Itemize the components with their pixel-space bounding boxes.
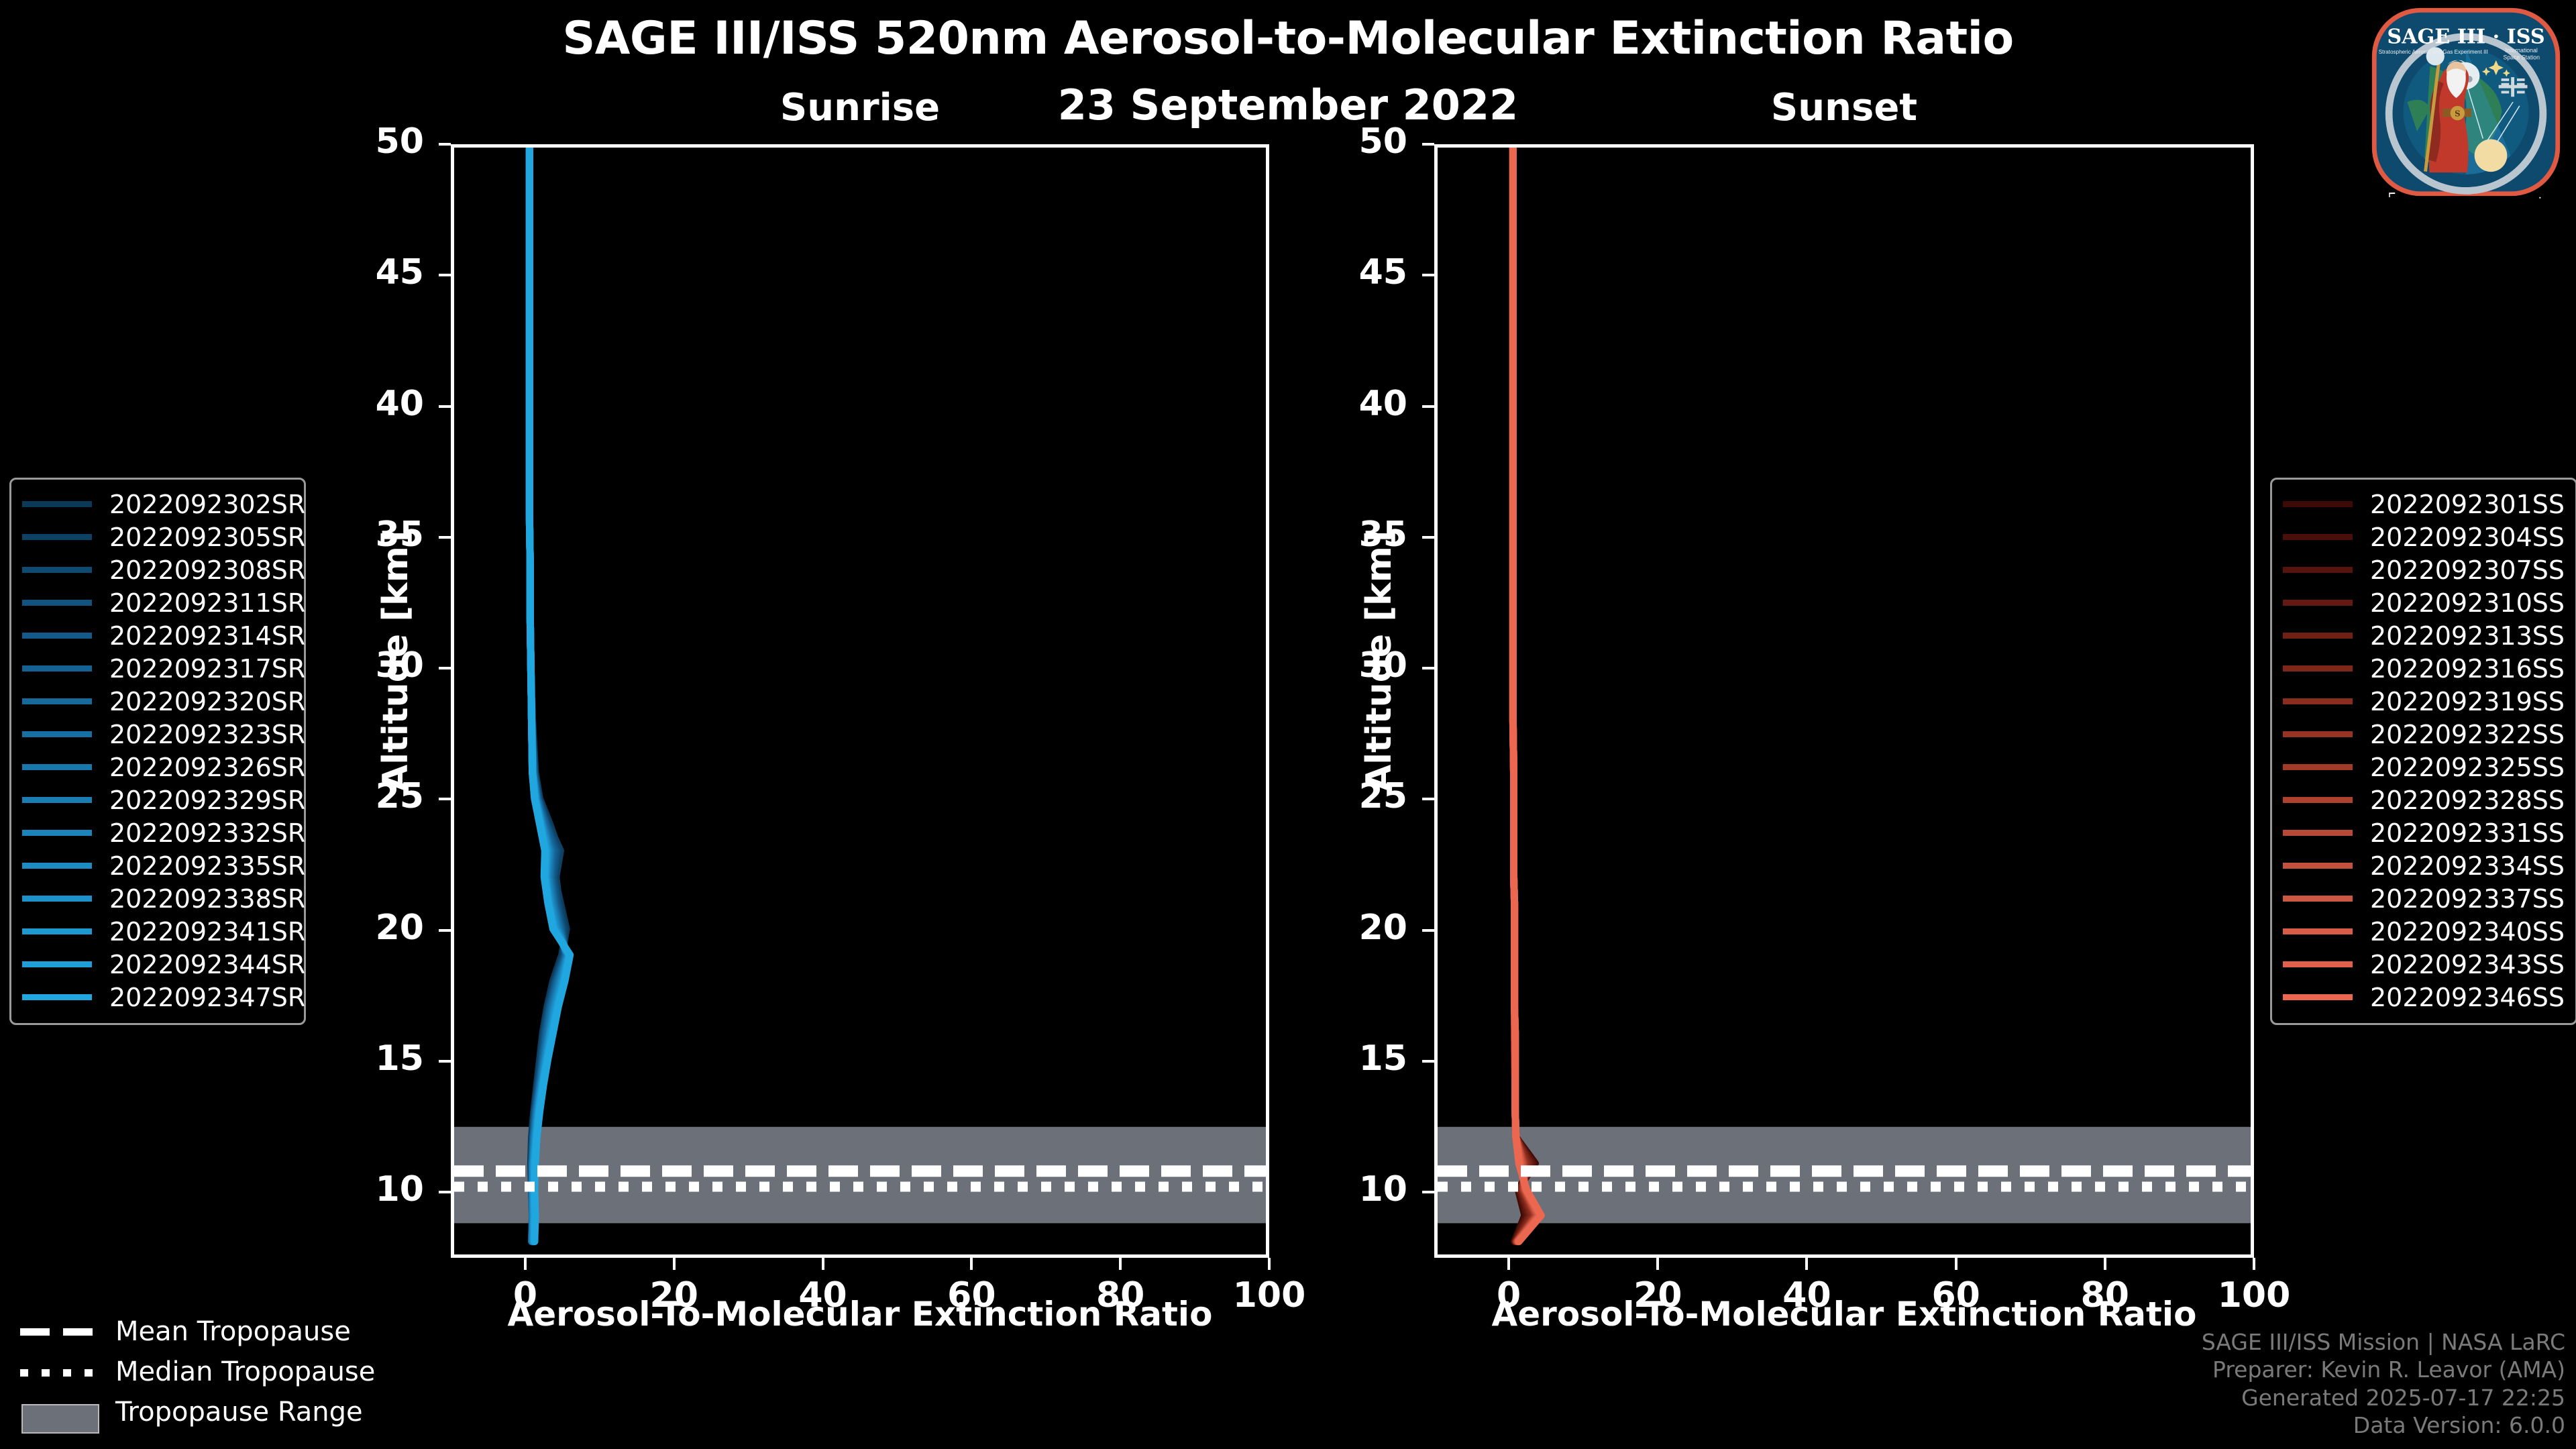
sunset-legend-label: 2022092334SS [2370,851,2565,881]
sunset-legend-label: 2022092322SS [2370,720,2565,749]
sunset-x-tick-mark [1805,1258,1808,1270]
sunset-legend-label: 2022092319SS [2370,687,2565,716]
sunset-y-tick-mark [1422,536,1434,539]
sunrise-legend-label: 2022092338SR [109,884,305,914]
credits-line: SAGE III/ISS Mission | NASA LaRC [2202,1328,2565,1356]
sunrise-legend-label: 2022092308SR [109,555,305,585]
dotted-line-icon [20,1364,101,1380]
patch-subtitle-left: Stratospheric Aerosol and Gas Experiment… [2379,49,2488,55]
sunset-panel-title: Sunset [1434,86,2254,129]
sunrise-y-tick-label: 50 [323,121,424,162]
sunrise-y-tick-mark [439,798,451,800]
sunrise-legend-color-swatch [22,633,92,639]
sunset-y-tick-label: 50 [1307,121,1407,162]
sunset-x-tick-mark [1955,1258,1957,1270]
sunrise-y-tick-mark [439,143,451,146]
sunrise-x-tick-label: 40 [769,1275,877,1316]
sunset-y-tick-mark [1422,667,1434,669]
sunset-legend-label: 2022092316SS [2370,654,2565,684]
sunset-legend-item[interactable]: 2022092304SS [2283,521,2565,553]
sunset-y-tick-label: 30 [1307,645,1407,686]
sunset-legend-color-swatch [2283,698,2353,704]
sunrise-legend-item[interactable]: 2022092347SR [22,981,293,1014]
sunrise-legend-color-swatch [22,665,92,672]
sunrise-y-tick-label: 45 [323,252,424,292]
sunset-legend-color-swatch [2283,600,2353,606]
sunrise-legend-color-swatch [22,501,92,507]
sunset-y-tick-label: 35 [1307,515,1407,555]
sunrise-legend-color-swatch [22,797,92,803]
tropopause-legend-label: Mean Tropopause [115,1316,351,1347]
sunrise-y-tick-mark [439,929,451,932]
sunset-x-tick-label: 80 [2051,1275,2159,1316]
sunrise-legend-color-swatch [22,928,92,934]
sunrise-legend-color-swatch [22,698,92,704]
sunrise-legend-item[interactable]: 2022092344SR [22,948,293,981]
sunrise-legend-item[interactable]: 2022092323SR [22,718,293,751]
sunset-legend-color-swatch [2283,797,2353,803]
sunrise-legend-item[interactable]: 2022092305SR [22,521,293,553]
sunset-legend-color-swatch [2283,830,2353,836]
sunset-legend-color-swatch [2283,665,2353,672]
shaded-band-icon [20,1404,101,1420]
sunrise-y-tick-label: 25 [323,776,424,816]
sunset-x-tick-mark [1507,1258,1510,1270]
sunset-legend-item[interactable]: 2022092301SS [2283,488,2565,521]
sunset-x-tick-label: 0 [1455,1275,1562,1316]
sunset-legend-color-swatch [2283,863,2353,869]
sunrise-legend-color-swatch [22,896,92,902]
sunset-legend-item[interactable]: 2022092319SS [2283,685,2565,718]
sunrise-y-tick-mark [439,1060,451,1063]
sunrise-legend-label: 2022092323SR [109,720,305,749]
sunset-legend-item[interactable]: 2022092325SS [2283,751,2565,784]
sunset-y-tick-mark [1422,798,1434,800]
sunrise-x-tick-mark [970,1258,973,1270]
sunset-legend-item[interactable]: 2022092343SS [2283,948,2565,981]
sunset-legend-color-swatch [2283,633,2353,639]
credits-block: SAGE III/ISS Mission | NASA LaRCPreparer… [2202,1328,2565,1440]
sunrise-x-tick-mark [1119,1258,1122,1270]
sunset-legend-item[interactable]: 2022092337SS [2283,882,2565,915]
sunrise-legend-label: 2022092305SR [109,523,305,552]
sunset-legend-item[interactable]: 2022092307SS [2283,553,2565,586]
page-title: SAGE III/ISS 520nm Aerosol-to-Molecular … [0,12,2576,65]
sunset-y-tick-mark [1422,1191,1434,1193]
tropopause-legend-label: Median Tropopause [115,1356,375,1387]
sunrise-legend-item[interactable]: 2022092302SR [22,488,293,521]
sunset-y-tick-label: 45 [1307,252,1407,292]
sunrise-y-tick-label: 30 [323,645,424,686]
sunrise-x-tick-mark [822,1258,824,1270]
sunset-legend-color-swatch [2283,928,2353,934]
sunrise-y-tick-mark [439,405,451,408]
sage-iii-iss-mission-patch-logo: S SAGE III · ISS Stratospheric Aerosol a… [2368,4,2564,200]
sunrise-y-tick-mark [439,1191,451,1193]
sunrise-x-tick-label: 100 [1216,1275,1323,1316]
sunset-y-tick-mark [1422,274,1434,276]
sunset-legend-label: 2022092304SS [2370,523,2565,552]
sunrise-y-tick-label: 40 [323,384,424,424]
sunrise-legend-item[interactable]: 2022092314SR [22,619,293,652]
sunset-x-tick-mark [1656,1258,1659,1270]
sunset-legend-label: 2022092301SS [2370,490,2565,519]
sunrise-panel-title: Sunrise [451,86,1269,129]
sunrise-y-tick-mark [439,667,451,669]
sunset-x-tick-label: 20 [1604,1275,1711,1316]
sunrise-legend-item[interactable]: 2022092326SR [22,751,293,784]
sunset-legend-label: 2022092313SS [2370,621,2565,651]
sunrise-legend-label: 2022092329SR [109,786,305,815]
sunrise-legend-item[interactable]: 2022092329SR [22,784,293,816]
sunrise-x-tick-label: 80 [1067,1275,1174,1316]
sunset-x-tick-label: 60 [1902,1275,2010,1316]
sunrise-legend-label: 2022092326SR [109,753,305,782]
sunrise-legend-color-swatch [22,764,92,770]
patch-subtitle-right-line2: Space Station [2503,54,2540,61]
sunrise-legend-color-swatch [22,731,92,737]
sunrise-legend-item[interactable]: 2022092311SR [22,586,293,619]
sunrise-x-tick-mark [673,1258,676,1270]
sunset-y-tick-label: 10 [1307,1169,1407,1210]
sunset-legend-label: 2022092307SS [2370,555,2565,585]
sunset-legend-color-swatch [2283,994,2353,1000]
tropopause-legend-item: Median Tropopause [20,1352,369,1392]
sunrise-legend-item[interactable]: 2022092317SR [22,652,293,685]
sunset-y-tick-label: 25 [1307,776,1407,816]
sunrise-legend-label: 2022092317SR [109,654,305,684]
sunset-y-tick-label: 15 [1307,1038,1407,1079]
profile-line [1513,148,1541,1242]
sunrise-x-tick-label: 60 [918,1275,1025,1316]
sunrise-legend-label: 2022092302SR [109,490,305,519]
sunset-legend-color-swatch [2283,501,2353,507]
sunset-legend-label: 2022092310SS [2370,588,2565,618]
sunset-legend-label: 2022092337SS [2370,884,2565,914]
sunset-y-tick-mark [1422,405,1434,408]
sunset-legend-item[interactable]: 2022092346SS [2283,981,2565,1014]
sunrise-legend-color-swatch [22,863,92,869]
patch-subtitle-right-line1: International [2506,47,2538,54]
patch-title: SAGE III · ISS [2387,25,2544,48]
sunset-legend-color-swatch [2283,731,2353,737]
sunrise-y-tick-label: 15 [323,1038,424,1079]
sunset-legend-label: 2022092328SS [2370,786,2565,815]
tropopause-legend: Mean TropopauseMedian TropopauseTropopau… [20,1311,369,1432]
sunset-y-tick-mark [1422,143,1434,146]
sunset-legend-label: 2022092340SS [2370,917,2565,947]
sunset-legend-item[interactable]: 2022092328SS [2283,784,2565,816]
sunset-legend-item[interactable]: 2022092313SS [2283,619,2565,652]
sunset-legend-item[interactable]: 2022092334SS [2283,849,2565,882]
sunset-legend[interactable]: 2022092301SS2022092304SS2022092307SS2022… [2270,478,2576,1025]
credits-line: Data Version: 6.0.0 [2202,1411,2565,1440]
sunset-legend-color-swatch [2283,567,2353,573]
sunrise-legend-item[interactable]: 2022092341SR [22,915,293,948]
sunrise-x-tick-label: 0 [472,1275,579,1316]
sunrise-legend-item[interactable]: 2022092332SR [22,816,293,849]
sunset-plot-area [1438,148,2251,1254]
sunrise-x-tick-mark [1268,1258,1271,1270]
sunset-legend-label: 2022092325SS [2370,753,2565,782]
sunset-legend-color-swatch [2283,896,2353,902]
dashed-line-icon [20,1324,101,1340]
sunrise-x-tick-mark [524,1258,527,1270]
sunrise-legend-label: 2022092320SR [109,687,305,716]
sunrise-legend-color-swatch [22,961,92,967]
sunset-legend-color-swatch [2283,534,2353,540]
sunrise-legend-label: 2022092332SR [109,818,305,848]
svg-text:S: S [2455,109,2460,118]
sunrise-y-tick-label: 35 [323,515,424,555]
sunset-legend-label: 2022092331SS [2370,818,2565,848]
sunset-y-tick-label: 40 [1307,384,1407,424]
sunset-legend-label: 2022092343SS [2370,950,2565,979]
sunset-legend-item[interactable]: 2022092316SS [2283,652,2565,685]
sunrise-legend-label: 2022092341SR [109,917,305,947]
sunrise-legend-item[interactable]: 2022092320SR [22,685,293,718]
sunset-legend-color-swatch [2283,764,2353,770]
sunset-legend-item[interactable]: 2022092331SS [2283,816,2565,849]
sunrise-legend-item[interactable]: 2022092308SR [22,553,293,586]
sunrise-legend-label: 2022092344SR [109,950,305,979]
sunset-x-tick-label: 40 [1753,1275,1860,1316]
sunrise-legend-item[interactable]: 2022092338SR [22,882,293,915]
sunrise-y-tick-mark [439,274,451,276]
sunset-legend-item[interactable]: 2022092322SS [2283,718,2565,751]
sunset-x-tick-mark [2253,1258,2255,1270]
sunrise-legend-label: 2022092347SR [109,983,305,1012]
sunrise-legend-label: 2022092335SR [109,851,305,881]
credits-line: Generated 2025-07-17 22:25 [2202,1384,2565,1412]
sunrise-legend-item[interactable]: 2022092335SR [22,849,293,882]
sunrise-legend-label: 2022092311SR [109,588,305,618]
tropopause-legend-item: Tropopause Range [20,1392,369,1432]
sunrise-legend-color-swatch [22,994,92,1000]
sunrise-legend[interactable]: 2022092302SR2022092305SR2022092308SR2022… [9,478,306,1025]
sunrise-legend-color-swatch [22,600,92,606]
sunset-legend-item[interactable]: 2022092310SS [2283,586,2565,619]
sunrise-y-tick-mark [439,536,451,539]
sunset-x-tick-label: 100 [2200,1275,2308,1316]
credits-line: Preparer: Kevin R. Leavor (AMA) [2202,1356,2565,1384]
sunset-x-tick-mark [2104,1258,2106,1270]
sunset-legend-color-swatch [2283,961,2353,967]
sunset-legend-item[interactable]: 2022092340SS [2283,915,2565,948]
sunrise-y-tick-label: 20 [323,908,424,948]
sunset-y-tick-mark [1422,929,1434,932]
sunrise-legend-label: 2022092314SR [109,621,305,651]
sunset-plot-panel [1434,144,2254,1258]
sunrise-plot-panel [451,144,1269,1258]
sunrise-legend-color-swatch [22,830,92,836]
sunrise-x-tick-label: 20 [621,1275,728,1316]
sunrise-legend-color-swatch [22,534,92,540]
sunrise-y-tick-label: 10 [323,1169,424,1210]
tropopause-legend-label: Tropopause Range [115,1397,363,1428]
sunrise-legend-color-swatch [22,567,92,573]
tropopause-legend-item: Mean Tropopause [20,1311,369,1352]
sunrise-plot-area [454,148,1266,1254]
sunset-legend-label: 2022092346SS [2370,983,2565,1012]
sunset-y-tick-mark [1422,1060,1434,1063]
sunset-y-tick-label: 20 [1307,908,1407,948]
